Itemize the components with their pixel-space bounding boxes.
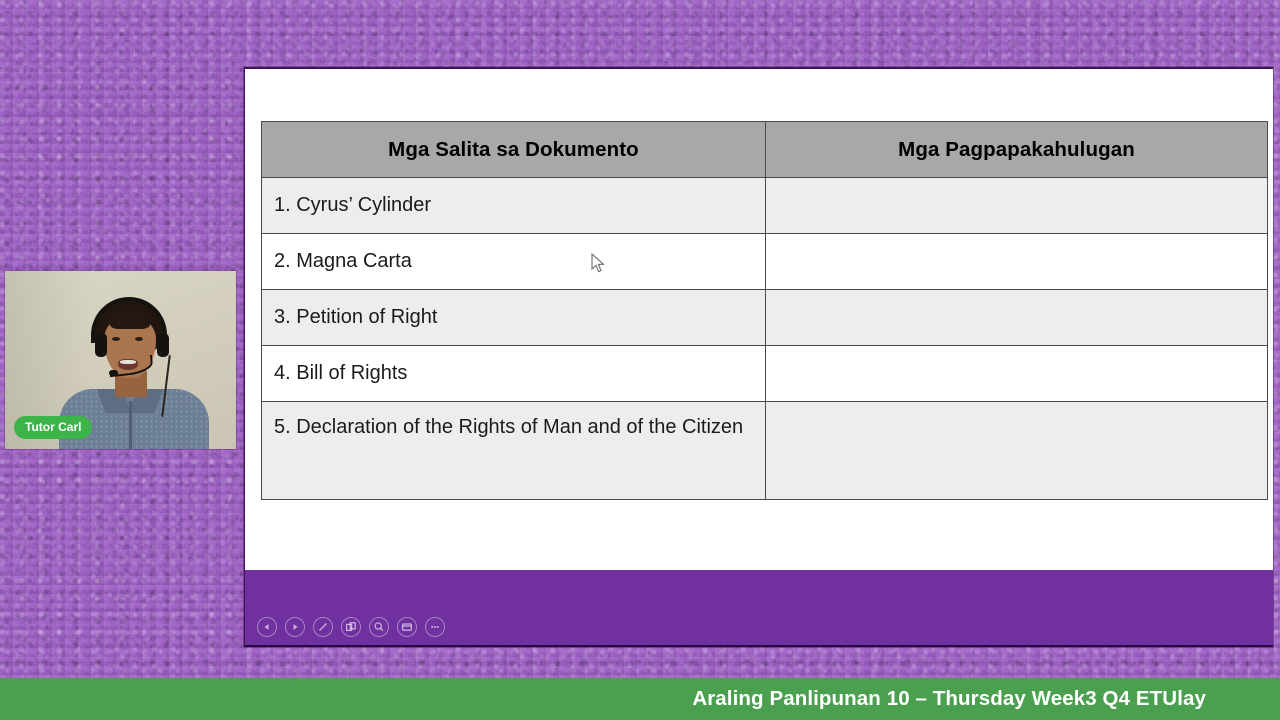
triangle-left-icon bbox=[262, 622, 272, 632]
lesson-title: Araling Panlipunan 10 – Thursday Week3 Q… bbox=[692, 687, 1206, 711]
column-header-meanings: Mga Pagpapakahulugan bbox=[766, 122, 1268, 178]
document-name: 2. Magna Carta bbox=[262, 234, 766, 290]
document-name: 3. Petition of Right bbox=[262, 290, 766, 346]
column-header-documents: Mga Salita sa Dokumento bbox=[262, 122, 766, 178]
meaning-answer-cell[interactable] bbox=[766, 178, 1268, 234]
participant-name-badge: Tutor Carl bbox=[14, 416, 92, 439]
screen-icon bbox=[401, 621, 413, 633]
table-row: 1. Cyrus’ Cylinder bbox=[262, 178, 1268, 234]
presenter-screen-button[interactable] bbox=[397, 617, 417, 637]
shared-slide-window: Mga Salita sa Dokumento Mga Pagpapakahul… bbox=[244, 67, 1273, 647]
previous-slide-button[interactable] bbox=[257, 617, 277, 637]
search-icon bbox=[373, 621, 385, 633]
headset-earcup-right bbox=[157, 333, 169, 357]
meaning-answer-cell[interactable] bbox=[766, 234, 1268, 290]
table-row: 2. Magna Carta bbox=[262, 234, 1268, 290]
presentation-toolbar bbox=[257, 617, 445, 637]
table-header-row: Mga Salita sa Dokumento Mga Pagpapakahul… bbox=[262, 122, 1268, 178]
triangle-right-icon bbox=[290, 622, 300, 632]
slide-footer-bar bbox=[245, 570, 1273, 647]
headset-earcup-left bbox=[95, 333, 107, 357]
meaning-answer-cell[interactable] bbox=[766, 290, 1268, 346]
document-name: 5. Declaration of the Rights of Man and … bbox=[262, 402, 766, 500]
document-name: 4. Bill of Rights bbox=[262, 346, 766, 402]
meaning-answer-cell[interactable] bbox=[766, 402, 1268, 500]
headset-mic-tip bbox=[109, 370, 118, 376]
lower-third-banner: Araling Panlipunan 10 – Thursday Week3 Q… bbox=[0, 678, 1280, 720]
slide-canvas: Mga Salita sa Dokumento Mga Pagpapakahul… bbox=[245, 69, 1273, 572]
more-options-button[interactable] bbox=[425, 617, 445, 637]
duplicate-slides-icon bbox=[345, 621, 357, 633]
table-row: 5. Declaration of the Rights of Man and … bbox=[262, 402, 1268, 500]
document-name: 1. Cyrus’ Cylinder bbox=[262, 178, 766, 234]
mouse-cursor bbox=[590, 253, 606, 275]
slide-thumbnails-button[interactable] bbox=[341, 617, 361, 637]
documents-meanings-table: Mga Salita sa Dokumento Mga Pagpapakahul… bbox=[261, 121, 1268, 500]
meaning-answer-cell[interactable] bbox=[766, 346, 1268, 402]
ellipsis-icon bbox=[429, 621, 441, 633]
webcam-shirt-placket bbox=[129, 401, 132, 449]
table-row: 3. Petition of Right bbox=[262, 290, 1268, 346]
next-slide-button[interactable] bbox=[285, 617, 305, 637]
pen-icon bbox=[317, 621, 329, 633]
table-row: 4. Bill of Rights bbox=[262, 346, 1268, 402]
webcam-tile[interactable]: Tutor Carl bbox=[5, 271, 236, 449]
annotate-pen-button[interactable] bbox=[313, 617, 333, 637]
zoom-magnifier-button[interactable] bbox=[369, 617, 389, 637]
